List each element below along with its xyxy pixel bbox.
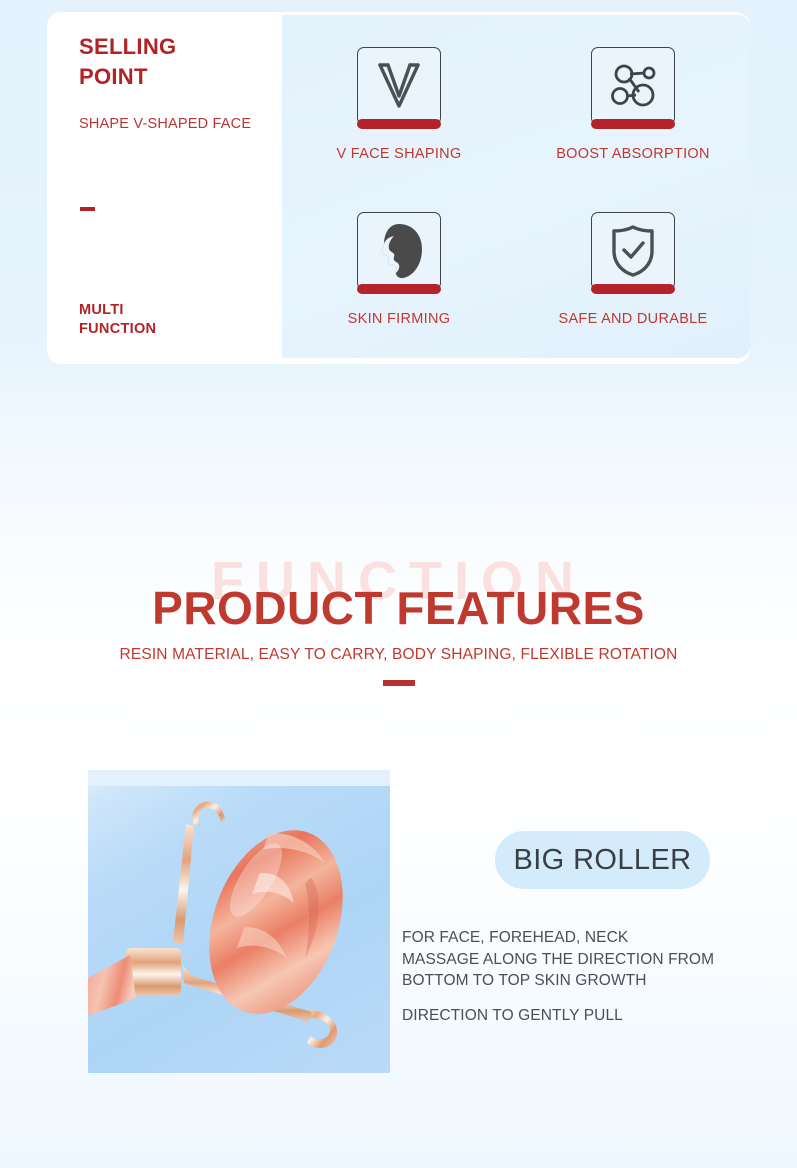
selling-point-card: SELLING POINT SHAPE V-SHAPED FACE MULTI … bbox=[47, 12, 750, 364]
selling-point-title-line1: SELLING bbox=[79, 32, 269, 62]
selling-point-subtitle: SHAPE V-SHAPED FACE bbox=[79, 115, 279, 134]
selling-point-footer-line2: FUNCTION bbox=[79, 320, 259, 339]
product-features-rule bbox=[383, 680, 415, 686]
roller-illustration bbox=[88, 770, 390, 1073]
feature-item-safe-and-durable: SAFE AND DURABLE bbox=[516, 194, 750, 359]
feature-label-boost-absorption: BOOST ABSORPTION bbox=[556, 146, 710, 162]
feature-item-skin-firming: SKIN FIRMING bbox=[282, 194, 516, 359]
feature-label-v-face-shaping: V FACE SHAPING bbox=[336, 146, 461, 162]
big-roller-description-block-1: FOR FACE, FOREHEAD, NECK MASSAGE ALONG T… bbox=[402, 927, 762, 992]
feature-item-boost-absorption: BOOST ABSORPTION bbox=[516, 29, 750, 194]
molecule-absorption-icon bbox=[591, 47, 675, 125]
selling-point-divider bbox=[80, 207, 95, 211]
feature-label-skin-firming: SKIN FIRMING bbox=[348, 311, 451, 327]
big-roller-desc-line-2: MASSAGE ALONG THE DIRECTION FROM bbox=[402, 949, 762, 971]
feature-label-safe-and-durable: SAFE AND DURABLE bbox=[558, 311, 707, 327]
big-roller-description: FOR FACE, FOREHEAD, NECK MASSAGE ALONG T… bbox=[402, 927, 762, 1026]
product-features-title: PRODUCT FEATURES bbox=[0, 582, 797, 634]
selling-point-footer-line1: MULTI bbox=[79, 301, 259, 320]
selling-point-title: SELLING POINT bbox=[79, 32, 269, 92]
feature-item-v-face-shaping: V FACE SHAPING bbox=[282, 29, 516, 194]
v-shape-icon bbox=[357, 47, 441, 125]
selling-point-left-column: SELLING POINT SHAPE V-SHAPED FACE MULTI … bbox=[47, 12, 282, 364]
selling-point-footer: MULTI FUNCTION bbox=[79, 301, 259, 339]
big-roller-desc-line-1: FOR FACE, FOREHEAD, NECK bbox=[402, 927, 762, 949]
product-photo-big-roller bbox=[88, 770, 390, 1073]
big-roller-badge: BIG ROLLER bbox=[495, 831, 710, 889]
selling-point-title-line2: POINT bbox=[79, 62, 269, 92]
shield-check-icon bbox=[591, 212, 675, 290]
big-roller-badge-label: BIG ROLLER bbox=[513, 844, 691, 877]
big-roller-desc-line-4: DIRECTION TO GENTLY PULL bbox=[402, 1005, 762, 1027]
face-profile-icon bbox=[357, 212, 441, 290]
selling-point-feature-grid: V FACE SHAPING BOOST ABSORPTION bbox=[282, 15, 750, 358]
product-features-subtitle: RESIN MATERIAL, EASY TO CARRY, BODY SHAP… bbox=[0, 646, 797, 664]
big-roller-description-block-2: DIRECTION TO GENTLY PULL bbox=[402, 1005, 762, 1027]
big-roller-desc-line-3: BOTTOM TO TOP SKIN GROWTH bbox=[402, 970, 762, 992]
product-features-header: FUNCTION PRODUCT FEATURES RESIN MATERIAL… bbox=[0, 552, 797, 686]
